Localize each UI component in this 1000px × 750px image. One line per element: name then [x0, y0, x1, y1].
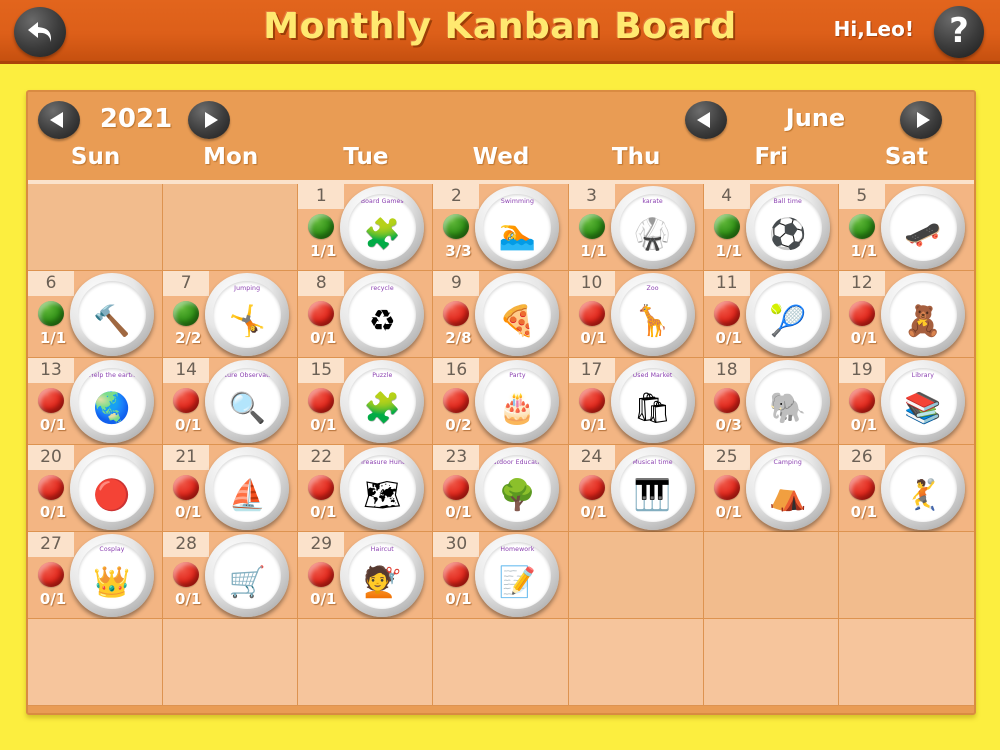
- calendar-day-cell[interactable]: 110/1🎾: [704, 271, 839, 358]
- previous-month-button[interactable]: [685, 101, 727, 139]
- calendar-day-cell[interactable]: 220/1Treasure Hunt🗺: [298, 445, 433, 532]
- calendar-board: 2021 June SunMonTueWedThuFriSat 11/1Boar…: [26, 90, 976, 715]
- calendar-empty-cell: [704, 619, 839, 706]
- calendar-empty-cell: [839, 619, 974, 706]
- status-dot-complete[interactable]: [173, 301, 199, 326]
- task-token-face: recycle♻: [348, 281, 416, 348]
- task-token[interactable]: Jumping🤸: [205, 273, 289, 356]
- chevron-left-icon: [50, 112, 63, 128]
- task-title: Zoo: [619, 285, 687, 292]
- calendar-empty-cell: [569, 532, 704, 619]
- status-dot-complete[interactable]: [714, 214, 740, 239]
- status-dot-pending[interactable]: [849, 475, 875, 500]
- weekday-header-wed: Wed: [433, 144, 568, 180]
- status-dot-complete[interactable]: [443, 214, 469, 239]
- task-token[interactable]: 🔨: [70, 273, 154, 356]
- weekday-header-mon: Mon: [163, 144, 298, 180]
- task-illustration-icon: 🤸: [213, 297, 281, 347]
- weekday-header-row: SunMonTueWedThuFriSat: [28, 144, 974, 184]
- status-dot-pending[interactable]: [308, 475, 334, 500]
- task-token-face: Treasure Hunt🗺: [348, 455, 416, 522]
- calendar-day-cell[interactable]: 240/1Musical time🎹: [569, 445, 704, 532]
- task-token-face: Puzzle🧩: [348, 368, 416, 435]
- calendar-empty-cell: [704, 532, 839, 619]
- task-token-face: Zoo🦒: [619, 281, 687, 348]
- day-number: 30: [433, 532, 479, 557]
- calendar-day-cell[interactable]: 160/2Party🎂: [433, 358, 568, 445]
- status-dot-pending[interactable]: [308, 562, 334, 587]
- calendar-day-cell[interactable]: 80/1recycle♻: [298, 271, 433, 358]
- task-progress-count: 0/1: [167, 590, 209, 608]
- help-button[interactable]: ?: [934, 6, 984, 58]
- day-number: 17: [569, 358, 615, 383]
- day-number: 9: [433, 271, 479, 296]
- status-dot-pending[interactable]: [173, 562, 199, 587]
- task-progress-count: 1/1: [302, 242, 344, 260]
- task-illustration-icon: 🐘: [754, 384, 822, 434]
- next-year-button[interactable]: [188, 101, 230, 139]
- task-title: Homework: [483, 546, 551, 553]
- task-illustration-icon: 🏊: [483, 210, 551, 260]
- task-progress-count: 1/1: [573, 242, 615, 260]
- task-title: Camping: [754, 459, 822, 466]
- task-token-face: Nature Observation🔍: [213, 368, 281, 435]
- task-progress-count: 3/3: [437, 242, 479, 260]
- task-illustration-icon: 📚: [889, 384, 957, 434]
- calendar-day-cell[interactable]: 51/1🛹: [839, 184, 974, 271]
- calendar-grid: 11/1Board Games🧩23/3Swimming🏊31/1karate🥋…: [28, 184, 974, 706]
- calendar-day-cell[interactable]: 290/1Haircut💇: [298, 532, 433, 619]
- next-month-button[interactable]: [900, 101, 942, 139]
- day-number: 20: [28, 445, 74, 470]
- chevron-right-icon: [205, 112, 218, 128]
- day-number: 26: [839, 445, 885, 470]
- user-greeting: Hi,Leo!: [834, 17, 914, 41]
- calendar-empty-cell: [839, 532, 974, 619]
- task-token-face: 🛒: [213, 542, 281, 609]
- task-illustration-icon: 🔨: [78, 297, 146, 347]
- task-title: Help the earth: [78, 372, 146, 379]
- task-progress-count: 0/1: [302, 503, 344, 521]
- task-token-face: 🐘: [754, 368, 822, 435]
- task-progress-count: 0/1: [573, 416, 615, 434]
- day-number: 3: [569, 184, 615, 209]
- task-title: Library: [889, 372, 957, 379]
- task-token-face: 🍕: [483, 281, 551, 348]
- task-illustration-icon: 🧩: [348, 384, 416, 434]
- status-dot-pending[interactable]: [443, 562, 469, 587]
- task-token-face: Cosplay👑: [78, 542, 146, 609]
- task-token[interactable]: 🐘: [746, 360, 830, 443]
- task-illustration-icon: 🛒: [213, 558, 281, 608]
- task-token[interactable]: Party🎂: [475, 360, 559, 443]
- task-progress-count: 0/1: [708, 503, 750, 521]
- task-token-face: Used Market🛍: [619, 368, 687, 435]
- task-progress-count: 2/2: [167, 329, 209, 347]
- calendar-day-cell[interactable]: 250/1Camping⛺: [704, 445, 839, 532]
- status-dot-pending[interactable]: [38, 475, 64, 500]
- task-token[interactable]: Outdoor Education🌳: [475, 447, 559, 530]
- task-illustration-icon: ⛵: [213, 471, 281, 521]
- calendar-day-cell[interactable]: 11/1Board Games🧩: [298, 184, 433, 271]
- task-token-face: 🔴: [78, 455, 146, 522]
- status-dot-pending[interactable]: [579, 475, 605, 500]
- task-title: recycle: [348, 285, 416, 292]
- calendar-day-cell[interactable]: 100/1Zoo🦒: [569, 271, 704, 358]
- task-token[interactable]: Haircut💇: [340, 534, 424, 617]
- task-title: Puzzle: [348, 372, 416, 379]
- task-title: Board Games: [348, 198, 416, 205]
- task-token[interactable]: Help the earth🌏: [70, 360, 154, 443]
- task-illustration-icon: 🍕: [483, 297, 551, 347]
- status-dot-complete[interactable]: [579, 214, 605, 239]
- status-dot-pending[interactable]: [308, 301, 334, 326]
- task-title: Jumping: [213, 285, 281, 292]
- day-number: 24: [569, 445, 615, 470]
- task-token-face: karate🥋: [619, 194, 687, 261]
- task-illustration-icon: 🦒: [619, 297, 687, 347]
- day-number: 21: [163, 445, 209, 470]
- task-token[interactable]: Musical time🎹: [611, 447, 695, 530]
- status-dot-pending[interactable]: [849, 388, 875, 413]
- calendar-empty-cell: [569, 619, 704, 706]
- task-token-face: Swimming🏊: [483, 194, 551, 261]
- task-token-face: Board Games🧩: [348, 194, 416, 261]
- calendar-day-cell[interactable]: 170/1Used Market🛍: [569, 358, 704, 445]
- weekday-header-sun: Sun: [28, 144, 163, 180]
- task-token-face: Ball time⚽: [754, 194, 822, 261]
- day-number: 23: [433, 445, 479, 470]
- previous-year-button[interactable]: [38, 101, 80, 139]
- task-token-face: Party🎂: [483, 368, 551, 435]
- task-progress-count: 0/2: [437, 416, 479, 434]
- calendar-day-cell[interactable]: 200/1🔴: [28, 445, 163, 532]
- status-dot-pending[interactable]: [443, 475, 469, 500]
- task-progress-count: 0/1: [167, 503, 209, 521]
- calendar-day-cell[interactable]: 41/1Ball time⚽: [704, 184, 839, 271]
- task-progress-count: 0/1: [302, 329, 344, 347]
- calendar-day-cell[interactable]: 190/1Library📚: [839, 358, 974, 445]
- day-number: 22: [298, 445, 344, 470]
- weekday-header-sat: Sat: [839, 144, 974, 180]
- status-dot-pending[interactable]: [579, 388, 605, 413]
- status-dot-pending[interactable]: [173, 475, 199, 500]
- status-dot-pending[interactable]: [714, 388, 740, 413]
- day-number: 5: [839, 184, 885, 209]
- task-token[interactable]: Treasure Hunt🗺: [340, 447, 424, 530]
- day-number: 1: [298, 184, 344, 209]
- task-progress-count: 1/1: [843, 242, 885, 260]
- task-title: Ball time: [754, 198, 822, 205]
- status-dot-pending[interactable]: [714, 301, 740, 326]
- status-dot-pending[interactable]: [173, 388, 199, 413]
- task-illustration-icon: 🧸: [889, 297, 957, 347]
- day-number: 11: [704, 271, 750, 296]
- calendar-day-cell[interactable]: 72/2Jumping🤸: [163, 271, 298, 358]
- task-token-face: Homework📝: [483, 542, 551, 609]
- task-token[interactable]: 🧸: [881, 273, 965, 356]
- task-token[interactable]: Nature Observation🔍: [205, 360, 289, 443]
- status-dot-pending[interactable]: [443, 301, 469, 326]
- task-progress-count: 0/1: [708, 329, 750, 347]
- task-progress-count: 0/3: [708, 416, 750, 434]
- day-number: 10: [569, 271, 615, 296]
- day-number: 27: [28, 532, 74, 557]
- status-dot-pending[interactable]: [579, 301, 605, 326]
- task-token-face: Library📚: [889, 368, 957, 435]
- task-token-face: 🎾: [754, 281, 822, 348]
- day-number: 29: [298, 532, 344, 557]
- task-illustration-icon: 🛍: [619, 384, 687, 434]
- task-progress-count: 0/1: [843, 416, 885, 434]
- task-token[interactable]: Used Market🛍: [611, 360, 695, 443]
- task-token[interactable]: Homework📝: [475, 534, 559, 617]
- task-title: Treasure Hunt: [348, 459, 416, 466]
- day-number: 18: [704, 358, 750, 383]
- task-token[interactable]: Ball time⚽: [746, 186, 830, 269]
- calendar-day-cell[interactable]: 210/1⛵: [163, 445, 298, 532]
- task-progress-count: 0/1: [843, 503, 885, 521]
- calendar-empty-cell: [298, 619, 433, 706]
- task-progress-count: 0/1: [437, 590, 479, 608]
- task-illustration-icon: ♻: [348, 297, 416, 347]
- day-number: 8: [298, 271, 344, 296]
- task-illustration-icon: 🎹: [619, 471, 687, 521]
- task-illustration-icon: 🥋: [619, 210, 687, 260]
- task-illustration-icon: 🧩: [348, 210, 416, 260]
- calendar-empty-cell: [433, 619, 568, 706]
- calendar-day-cell[interactable]: 180/3🐘: [704, 358, 839, 445]
- calendar-day-cell[interactable]: 130/1Help the earth🌏: [28, 358, 163, 445]
- task-token[interactable]: Library📚: [881, 360, 965, 443]
- task-token-face: Outdoor Education🌳: [483, 455, 551, 522]
- day-number: 28: [163, 532, 209, 557]
- task-token[interactable]: 🎾: [746, 273, 830, 356]
- task-token[interactable]: recycle♻: [340, 273, 424, 356]
- status-dot-complete[interactable]: [849, 214, 875, 239]
- task-token[interactable]: 🛹: [881, 186, 965, 269]
- task-illustration-icon: 🔴: [78, 471, 146, 521]
- task-token-face: Jumping🤸: [213, 281, 281, 348]
- task-title: Nature Observation: [213, 372, 281, 379]
- task-title: Outdoor Education: [483, 459, 551, 466]
- status-dot-pending[interactable]: [714, 475, 740, 500]
- task-token[interactable]: 🤾: [881, 447, 965, 530]
- day-number: 6: [28, 271, 74, 296]
- day-number: 19: [839, 358, 885, 383]
- task-illustration-icon: 🎂: [483, 384, 551, 434]
- task-illustration-icon: 🌏: [78, 384, 146, 434]
- task-token-face: 🤾: [889, 455, 957, 522]
- status-dot-pending[interactable]: [308, 388, 334, 413]
- calendar-day-cell[interactable]: 300/1Homework📝: [433, 532, 568, 619]
- status-dot-pending[interactable]: [38, 388, 64, 413]
- task-illustration-icon: 🤾: [889, 471, 957, 521]
- task-token[interactable]: Swimming🏊: [475, 186, 559, 269]
- task-illustration-icon: ⚽: [754, 210, 822, 260]
- day-number: 2: [433, 184, 479, 209]
- weekday-header-fri: Fri: [704, 144, 839, 180]
- task-title: Musical time: [619, 459, 687, 466]
- task-progress-count: 0/1: [32, 503, 74, 521]
- task-illustration-icon: 🌳: [483, 471, 551, 521]
- app-header: Monthly Kanban Board Hi,Leo! ?: [0, 0, 1000, 64]
- day-number: 14: [163, 358, 209, 383]
- task-illustration-icon: 📝: [483, 558, 551, 608]
- task-title: Swimming: [483, 198, 551, 205]
- calendar-day-cell[interactable]: 230/1Outdoor Education🌳: [433, 445, 568, 532]
- task-progress-count: 0/1: [167, 416, 209, 434]
- status-dot-complete[interactable]: [38, 301, 64, 326]
- task-token-face: ⛵: [213, 455, 281, 522]
- task-token[interactable]: Puzzle🧩: [340, 360, 424, 443]
- task-token[interactable]: Board Games🧩: [340, 186, 424, 269]
- task-illustration-icon: 🗺: [348, 471, 416, 521]
- day-number: 15: [298, 358, 344, 383]
- task-progress-count: 1/1: [708, 242, 750, 260]
- task-token[interactable]: Zoo🦒: [611, 273, 695, 356]
- task-title: karate: [619, 198, 687, 205]
- task-token[interactable]: Camping⛺: [746, 447, 830, 530]
- calendar-day-cell[interactable]: 270/1Cosplay👑: [28, 532, 163, 619]
- task-title: Cosplay: [78, 546, 146, 553]
- day-number: 7: [163, 271, 209, 296]
- chevron-right-icon: [917, 112, 930, 128]
- day-number: 13: [28, 358, 74, 383]
- calendar-empty-cell: [163, 184, 298, 271]
- task-illustration-icon: 💇: [348, 558, 416, 608]
- task-progress-count: 0/1: [32, 590, 74, 608]
- calendar-day-cell[interactable]: 61/1🔨: [28, 271, 163, 358]
- calendar-day-cell[interactable]: 280/1🛒: [163, 532, 298, 619]
- task-progress-count: 0/1: [573, 329, 615, 347]
- task-progress-count: 0/1: [32, 416, 74, 434]
- task-progress-count: 0/1: [302, 590, 344, 608]
- weekday-header-thu: Thu: [569, 144, 704, 180]
- task-token-face: Haircut💇: [348, 542, 416, 609]
- status-dot-pending[interactable]: [38, 562, 64, 587]
- calendar-empty-cell: [28, 619, 163, 706]
- calendar-empty-cell: [28, 184, 163, 271]
- day-number: 4: [704, 184, 750, 209]
- task-illustration-icon: 🛹: [889, 210, 957, 260]
- task-illustration-icon: 🎾: [754, 297, 822, 347]
- status-dot-pending[interactable]: [849, 301, 875, 326]
- calendar-navigation: 2021 June: [28, 92, 974, 144]
- calendar-day-cell[interactable]: 120/1🧸: [839, 271, 974, 358]
- year-label: 2021: [86, 104, 186, 134]
- task-token-face: Help the earth🌏: [78, 368, 146, 435]
- day-number: 16: [433, 358, 479, 383]
- question-mark-icon: ?: [934, 6, 984, 58]
- task-illustration-icon: ⛺: [754, 471, 822, 521]
- status-dot-complete[interactable]: [308, 214, 334, 239]
- task-token[interactable]: ⛵: [205, 447, 289, 530]
- task-illustration-icon: 👑: [78, 558, 146, 608]
- chevron-left-icon: [697, 112, 710, 128]
- calendar-empty-cell: [163, 619, 298, 706]
- task-progress-count: 0/1: [843, 329, 885, 347]
- calendar-day-cell[interactable]: 150/1Puzzle🧩: [298, 358, 433, 445]
- task-progress-count: 0/1: [302, 416, 344, 434]
- day-number: 25: [704, 445, 750, 470]
- calendar-day-cell[interactable]: 31/1karate🥋: [569, 184, 704, 271]
- task-token-face: 🔨: [78, 281, 146, 348]
- task-token[interactable]: karate🥋: [611, 186, 695, 269]
- month-label: June: [728, 104, 903, 132]
- task-token[interactable]: 🍕: [475, 273, 559, 356]
- day-number: 12: [839, 271, 885, 296]
- task-token-face: 🧸: [889, 281, 957, 348]
- task-token-face: 🛹: [889, 194, 957, 261]
- task-token[interactable]: 🛒: [205, 534, 289, 617]
- task-title: Haircut: [348, 546, 416, 553]
- task-progress-count: 1/1: [32, 329, 74, 347]
- task-token-face: Camping⛺: [754, 455, 822, 522]
- task-title: Party: [483, 372, 551, 379]
- weekday-header-tue: Tue: [298, 144, 433, 180]
- task-title: Used Market: [619, 372, 687, 379]
- calendar-day-cell[interactable]: 92/8🍕: [433, 271, 568, 358]
- calendar-day-cell[interactable]: 23/3Swimming🏊: [433, 184, 568, 271]
- task-progress-count: 0/1: [437, 503, 479, 521]
- calendar-day-cell[interactable]: 140/1Nature Observation🔍: [163, 358, 298, 445]
- task-illustration-icon: 🔍: [213, 384, 281, 434]
- task-token[interactable]: 🔴: [70, 447, 154, 530]
- task-token-face: Musical time🎹: [619, 455, 687, 522]
- task-progress-count: 0/1: [573, 503, 615, 521]
- task-progress-count: 2/8: [437, 329, 479, 347]
- calendar-day-cell[interactable]: 260/1🤾: [839, 445, 974, 532]
- status-dot-pending[interactable]: [443, 388, 469, 413]
- task-token[interactable]: Cosplay👑: [70, 534, 154, 617]
